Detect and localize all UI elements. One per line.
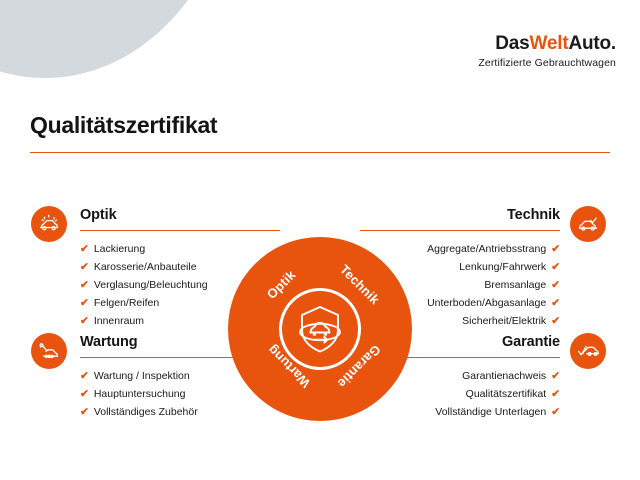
logo-word-das: Das bbox=[495, 33, 529, 54]
check-icon: ✔ bbox=[551, 297, 560, 309]
car-warranty-check-icon bbox=[570, 333, 606, 369]
list-item-label: Lackierung bbox=[94, 243, 145, 255]
list-item-label: Felgen/Reifen bbox=[94, 297, 159, 309]
wrench-car-icon bbox=[31, 333, 67, 369]
list-item-label: Karosserie/Anbauteile bbox=[94, 261, 197, 273]
list-item-label: Sicherheit/Elektrik bbox=[462, 315, 546, 327]
list-item-label: Garantienachweis bbox=[462, 370, 546, 382]
check-icon: ✔ bbox=[551, 406, 560, 418]
list-item-label: Lenkung/Fahrwerk bbox=[459, 261, 546, 273]
check-icon: ✔ bbox=[551, 243, 560, 255]
list-item-label: Wartung / Inspektion bbox=[94, 370, 190, 382]
list-item-label: Qualitätszertifikat bbox=[466, 388, 547, 400]
list-item-label: Innenraum bbox=[94, 315, 144, 327]
logo-word-auto: Auto. bbox=[568, 33, 616, 54]
check-icon: ✔ bbox=[80, 388, 89, 400]
list-item-label: Aggregate/Antriebsstrang bbox=[427, 243, 546, 255]
list-item-label: Vollständiges Zubehör bbox=[94, 406, 198, 418]
page-title: Qualitätszertifikat bbox=[30, 112, 217, 139]
check-icon: ✔ bbox=[80, 406, 89, 418]
check-icon: ✔ bbox=[80, 279, 89, 291]
check-icon: ✔ bbox=[80, 297, 89, 309]
list-item-label: Verglasung/Beleuchtung bbox=[94, 279, 208, 291]
check-icon: ✔ bbox=[80, 370, 89, 382]
car-sparkle-icon bbox=[31, 206, 67, 242]
certificate-page: DasWeltAuto. Zertifizierte Gebrauchtwage… bbox=[0, 0, 640, 480]
check-icon: ✔ bbox=[551, 279, 560, 291]
brand-logo: DasWeltAuto. Zertifizierte Gebrauchtwage… bbox=[478, 34, 616, 69]
section-optik-heading: Optik bbox=[80, 208, 280, 224]
check-icon: ✔ bbox=[551, 370, 560, 382]
list-item-label: Vollständige Unterlagen bbox=[435, 406, 546, 418]
list-item-label: Bremsanlage bbox=[484, 279, 546, 291]
donut-center-disc bbox=[282, 291, 358, 367]
logo-wordmark: DasWeltAuto. bbox=[478, 34, 616, 53]
logo-tagline: Zertifizierte Gebrauchtwagen bbox=[478, 58, 616, 69]
check-icon: ✔ bbox=[80, 243, 89, 255]
list-item-label: Hauptuntersuchung bbox=[94, 388, 186, 400]
check-icon: ✔ bbox=[80, 261, 89, 273]
title-divider bbox=[30, 152, 610, 153]
check-icon: ✔ bbox=[80, 315, 89, 327]
logo-word-welt: Welt bbox=[529, 33, 568, 54]
section-technik-heading: Technik bbox=[360, 208, 560, 224]
header-gray-blob bbox=[0, 0, 240, 78]
center-donut-diagram: Optik Technik Wartung Garantie bbox=[222, 231, 418, 427]
check-icon: ✔ bbox=[551, 261, 560, 273]
check-icon: ✔ bbox=[551, 315, 560, 327]
check-icon: ✔ bbox=[551, 388, 560, 400]
list-item-label: Unterboden/Abgasanlage bbox=[427, 297, 546, 309]
car-check-icon bbox=[570, 206, 606, 242]
